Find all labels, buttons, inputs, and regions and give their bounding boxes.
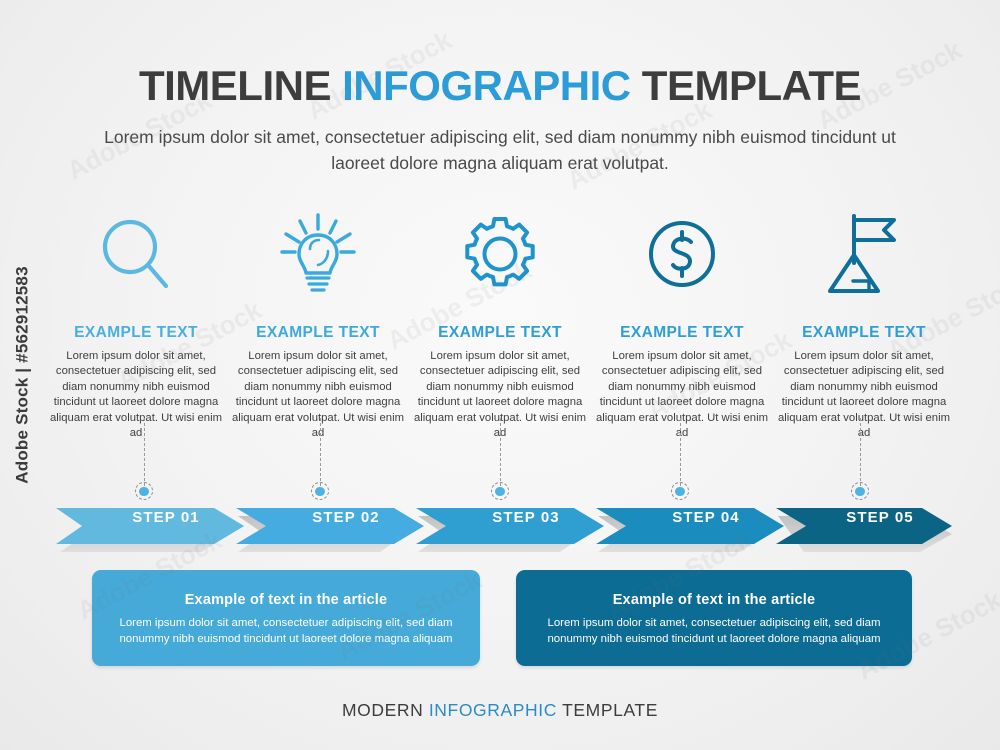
column-3: EXAMPLE TEXT Lorem ipsum dolor sit amet,…: [412, 206, 588, 441]
column-5: EXAMPLE TEXT Lorem ipsum dolor sit amet,…: [776, 206, 952, 441]
connector-line-1: [144, 418, 146, 486]
connector-dot-3: [495, 487, 505, 497]
footer-text-1: MODERN: [342, 700, 429, 720]
article-box-group: Example of text in the article Lorem ips…: [0, 570, 1000, 672]
connector-dot-5: [855, 487, 865, 497]
column-1: EXAMPLE TEXT Lorem ipsum dolor sit amet,…: [48, 206, 224, 441]
connector-line-3: [500, 418, 502, 486]
column-4: EXAMPLE TEXT Lorem ipsum dolor sit amet,…: [594, 206, 770, 441]
gear-icon: [460, 206, 540, 302]
connector-group: [48, 418, 952, 510]
column-group: EXAMPLE TEXT Lorem ipsum dolor sit amet,…: [48, 206, 952, 441]
title-text-accent: INFOGRAPHIC: [342, 62, 631, 109]
flag-icon: [826, 206, 902, 302]
magnifier-icon: [98, 206, 174, 302]
footer-text-2: TEMPLATE: [557, 700, 658, 720]
column-title: EXAMPLE TEXT: [74, 324, 198, 342]
step-label-3: STEP 03: [446, 509, 606, 526]
connector-dot-2: [315, 487, 325, 497]
article-box-body: Lorem ipsum dolor sit amet, consectetuer…: [516, 616, 912, 647]
article-box-1: Example of text in the article Lorem ips…: [92, 570, 480, 666]
step-label-2: STEP 02: [266, 509, 426, 526]
column-title: EXAMPLE TEXT: [256, 324, 380, 342]
step-label-5: STEP 05: [800, 509, 960, 526]
step-label-1: STEP 01: [86, 509, 246, 526]
article-box-title: Example of text in the article: [516, 592, 912, 608]
connector-line-5: [860, 418, 862, 486]
page-subtitle: Lorem ipsum dolor sit amet, consectetuer…: [88, 124, 912, 176]
title-text-1: TIMELINE: [139, 62, 342, 109]
infographic-canvas: TIMELINE INFOGRAPHIC TEMPLATE Lorem ipsu…: [0, 0, 1000, 750]
column-title: EXAMPLE TEXT: [620, 324, 744, 342]
connector-line-2: [320, 418, 322, 486]
step-label-4: STEP 04: [626, 509, 786, 526]
lightbulb-icon: [278, 206, 358, 302]
dollar-coin-icon: [643, 206, 721, 302]
connector-line-4: [680, 418, 682, 486]
connector-dot-4: [675, 487, 685, 497]
column-2: EXAMPLE TEXT Lorem ipsum dolor sit amet,…: [230, 206, 406, 441]
title-text-2: TEMPLATE: [631, 62, 861, 109]
footer-title: MODERN INFOGRAPHIC TEMPLATE: [0, 700, 1000, 721]
article-box-2: Example of text in the article Lorem ips…: [516, 570, 912, 666]
connector-dot-1: [139, 487, 149, 497]
column-title: EXAMPLE TEXT: [438, 324, 562, 342]
article-box-title: Example of text in the article: [92, 592, 480, 608]
footer-text-accent: INFOGRAPHIC: [429, 700, 557, 720]
article-box-body: Lorem ipsum dolor sit amet, consectetuer…: [92, 616, 480, 647]
column-title: EXAMPLE TEXT: [802, 324, 926, 342]
page-title: TIMELINE INFOGRAPHIC TEMPLATE: [0, 62, 1000, 110]
